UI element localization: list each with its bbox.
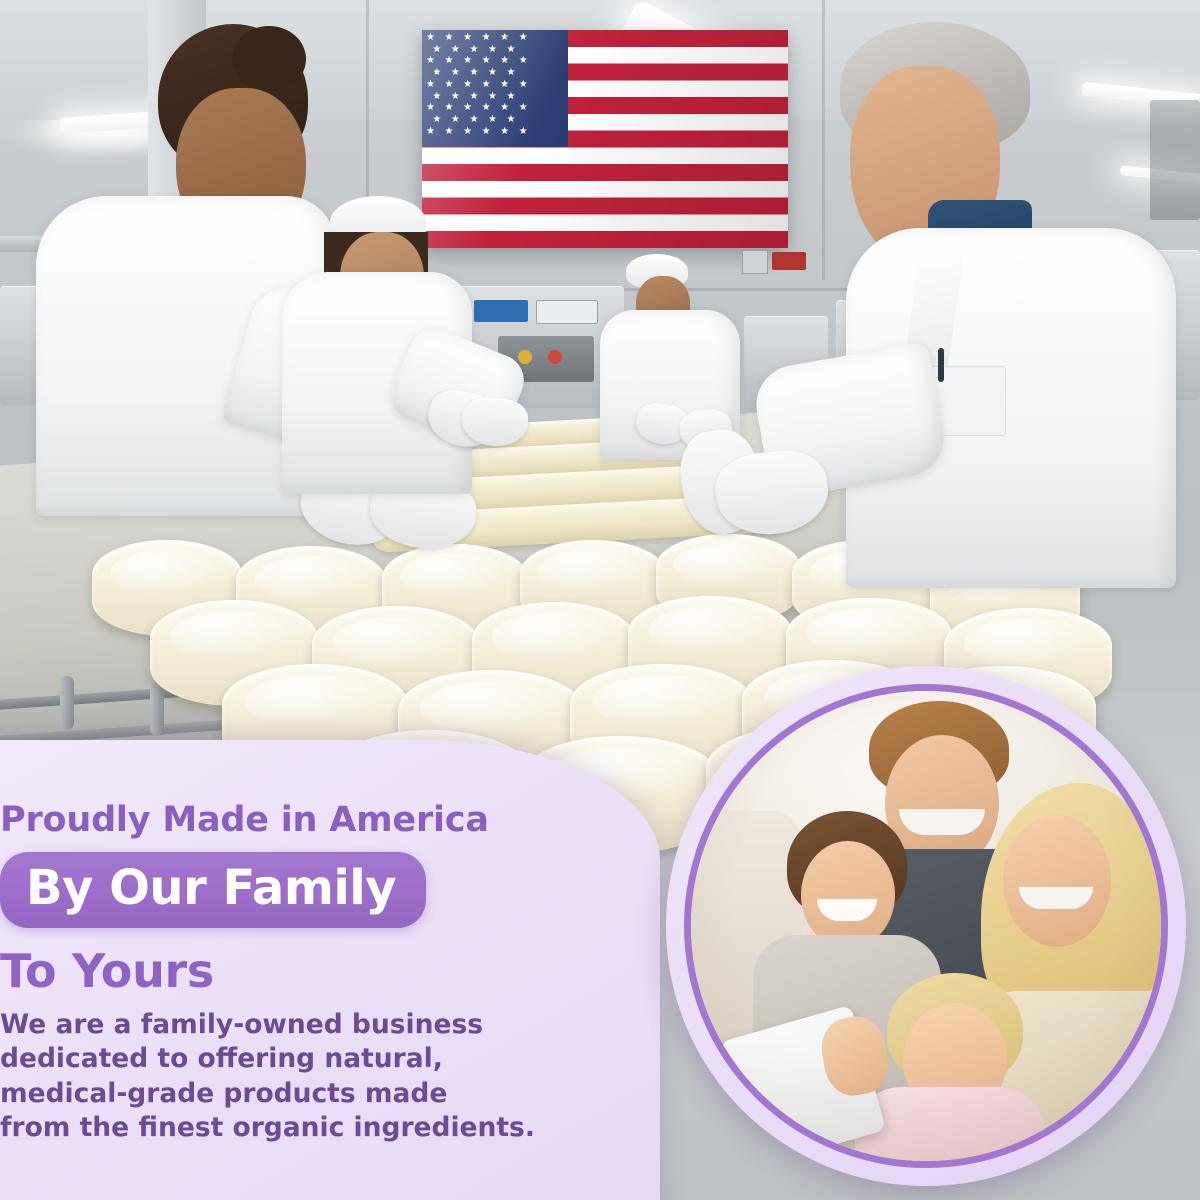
worker-hair-bun [232, 26, 306, 92]
indicator-light-amber [518, 350, 532, 364]
background-machine-6 [1150, 100, 1200, 220]
headline-pill: By Our Family [0, 852, 426, 928]
promotional-graphic: ★ ★ ★ ★ ★ ★ ★ ★ ★ ★ ★ ★ ★ ★ ★ ★ ★ ★ ★ ★ … [0, 0, 1200, 1200]
body-line-1: We are a family-owned business [0, 1008, 560, 1042]
conveyor-roller [150, 682, 164, 736]
wall-box [742, 250, 768, 274]
emergency-sign [772, 252, 806, 270]
body-line-4: from the finest organic ingredients. [0, 1111, 560, 1145]
machine-sign-blue [474, 300, 528, 322]
family-photo [691, 691, 1161, 1161]
machine-sign-white [536, 300, 598, 324]
message-panel: Proudly Made in America By Our Family To… [0, 740, 660, 1200]
family-photo-badge [666, 666, 1186, 1186]
family-photo-ring [684, 684, 1168, 1168]
indicator-light-red [548, 350, 562, 364]
subheadline: To Yours [0, 944, 620, 998]
photo-vignette [691, 691, 1161, 1161]
pocket-pen [938, 348, 944, 382]
united-states-flag: ★ ★ ★ ★ ★ ★ ★ ★ ★ ★ ★ ★ ★ ★ ★ ★ ★ ★ ★ ★ … [422, 30, 788, 248]
body-line-2: dedicated to offering natural, [0, 1042, 560, 1076]
body-copy: We are a family-owned business dedicated… [0, 1008, 560, 1146]
body-line-3: medical-grade products made [0, 1077, 560, 1111]
conveyor-roller [60, 676, 74, 730]
kicker-text: Proudly Made in America [0, 800, 620, 840]
flag-shading [422, 30, 788, 248]
wall-seam-3 [822, 0, 825, 280]
message-panel-content: Proudly Made in America By Our Family To… [0, 740, 620, 1200]
pill-row: By Our Family [0, 852, 620, 928]
